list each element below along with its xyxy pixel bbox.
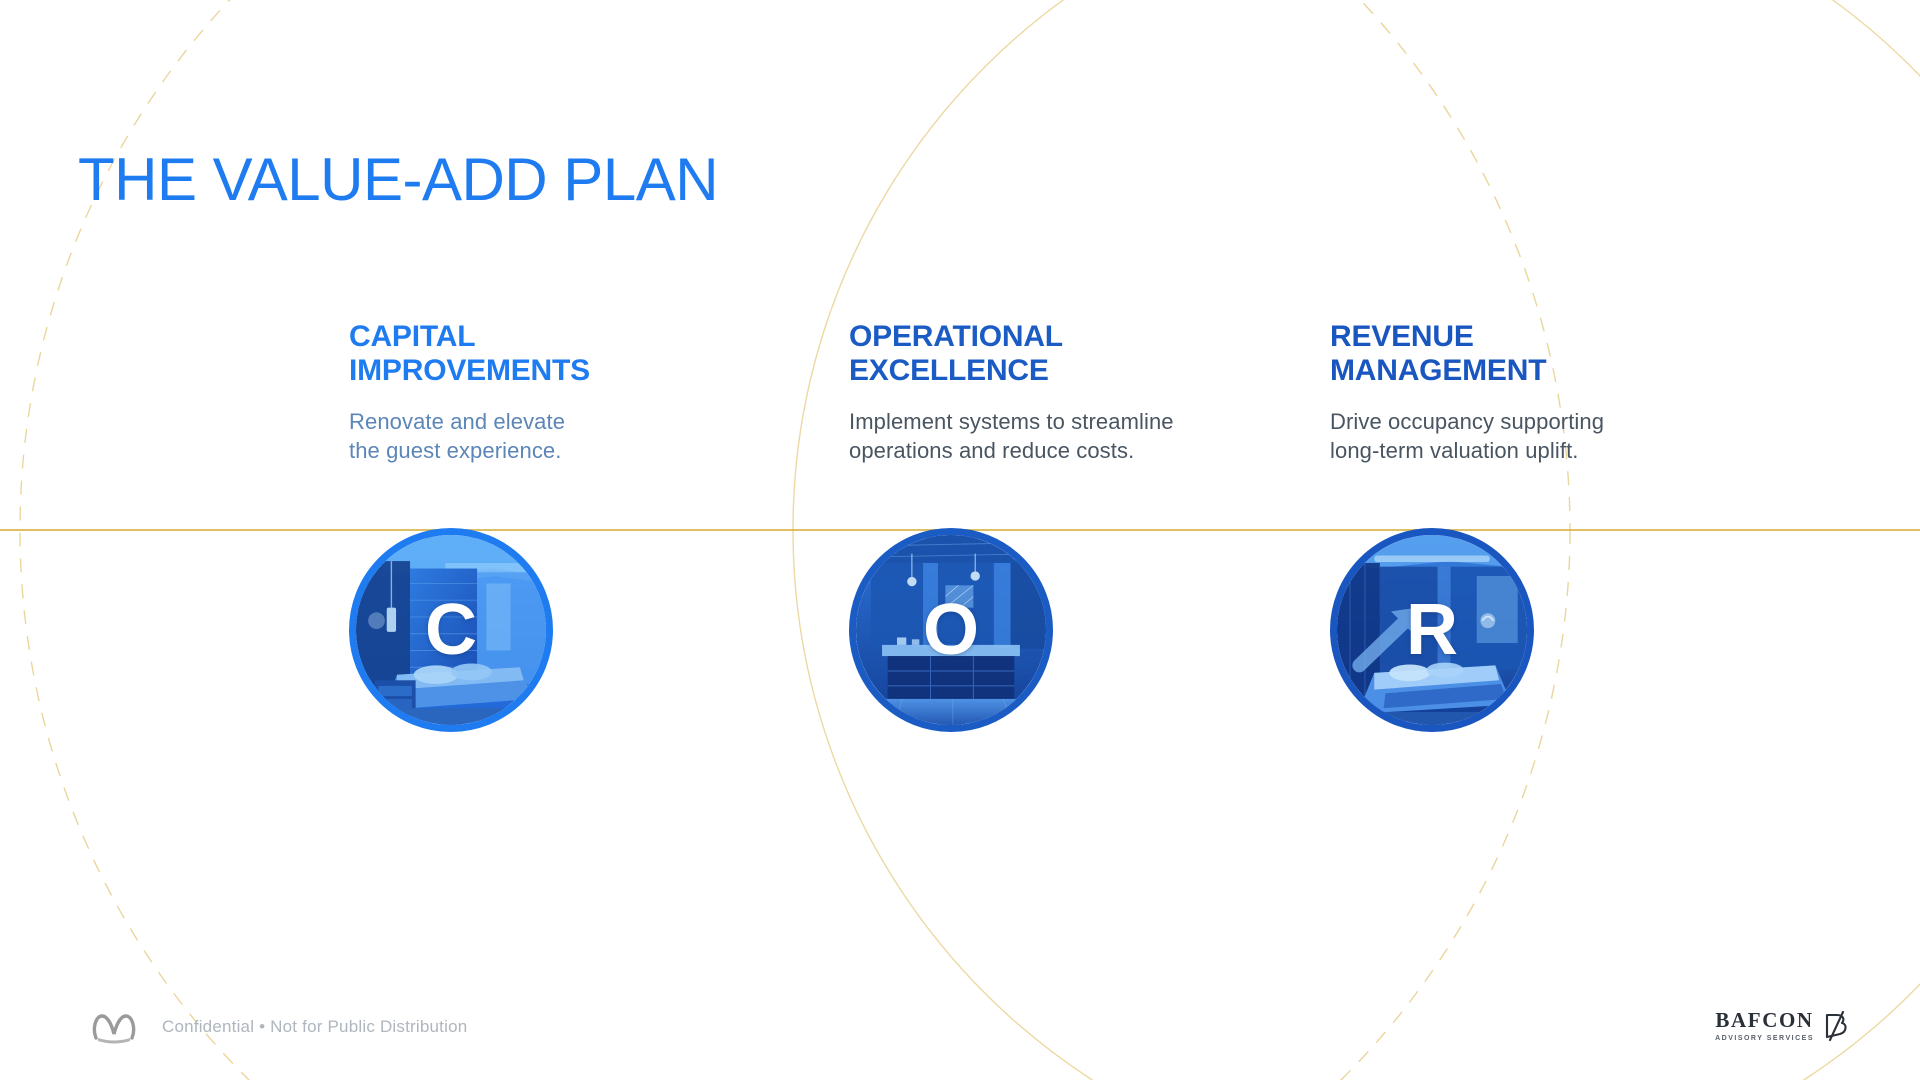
pillar-badge-letter: R (1337, 535, 1527, 725)
footer-left-group: Confidential • Not for Public Distributi… (90, 1010, 467, 1044)
pillar-description: Drive occupancy supporting long-term val… (1330, 408, 1690, 464)
logo-wordmark: BAFCON (1715, 1010, 1813, 1031)
pillar-heading: REVENUE MANAGEMENT (1330, 320, 1690, 388)
pillar-description: Renovate and elevate the guest experienc… (349, 408, 709, 464)
value-add-pillars: CAPITAL IMPROVEMENTS Renovate and elevat… (0, 320, 1920, 820)
pillar-badge-letter: O (856, 535, 1046, 725)
bafcon-logo: BAFCON ADVISORY SERVICES (1715, 1010, 1850, 1042)
pillar-description: Implement systems to streamline operatio… (849, 408, 1209, 464)
logo-tagline: ADVISORY SERVICES (1715, 1035, 1814, 1042)
confidentiality-note: Confidential • Not for Public Distributi… (162, 1017, 467, 1037)
logo-text-group: BAFCON ADVISORY SERVICES (1715, 1010, 1814, 1042)
pillar-capital-improvements: CAPITAL IMPROVEMENTS Renovate and elevat… (349, 320, 709, 487)
pillar-heading: CAPITAL IMPROVEMENTS (349, 320, 709, 388)
crown-icon (90, 1010, 138, 1044)
pillar-revenue-management: REVENUE MANAGEMENT Drive occupancy suppo… (1330, 320, 1690, 487)
page-title: THE VALUE-ADD PLAN (78, 150, 718, 210)
pillar-badge-revenue[interactable]: R (1330, 528, 1534, 732)
pillar-badge-capital[interactable]: C (349, 528, 553, 732)
pillar-operational-excellence: OPERATIONAL EXCELLENCE Implement systems… (849, 320, 1209, 487)
pillar-badge-operational[interactable]: O (849, 528, 1053, 732)
logo-monogram-b-icon (1822, 1011, 1850, 1041)
pillar-heading: OPERATIONAL EXCELLENCE (849, 320, 1209, 388)
pillar-badge-letter: C (356, 535, 546, 725)
